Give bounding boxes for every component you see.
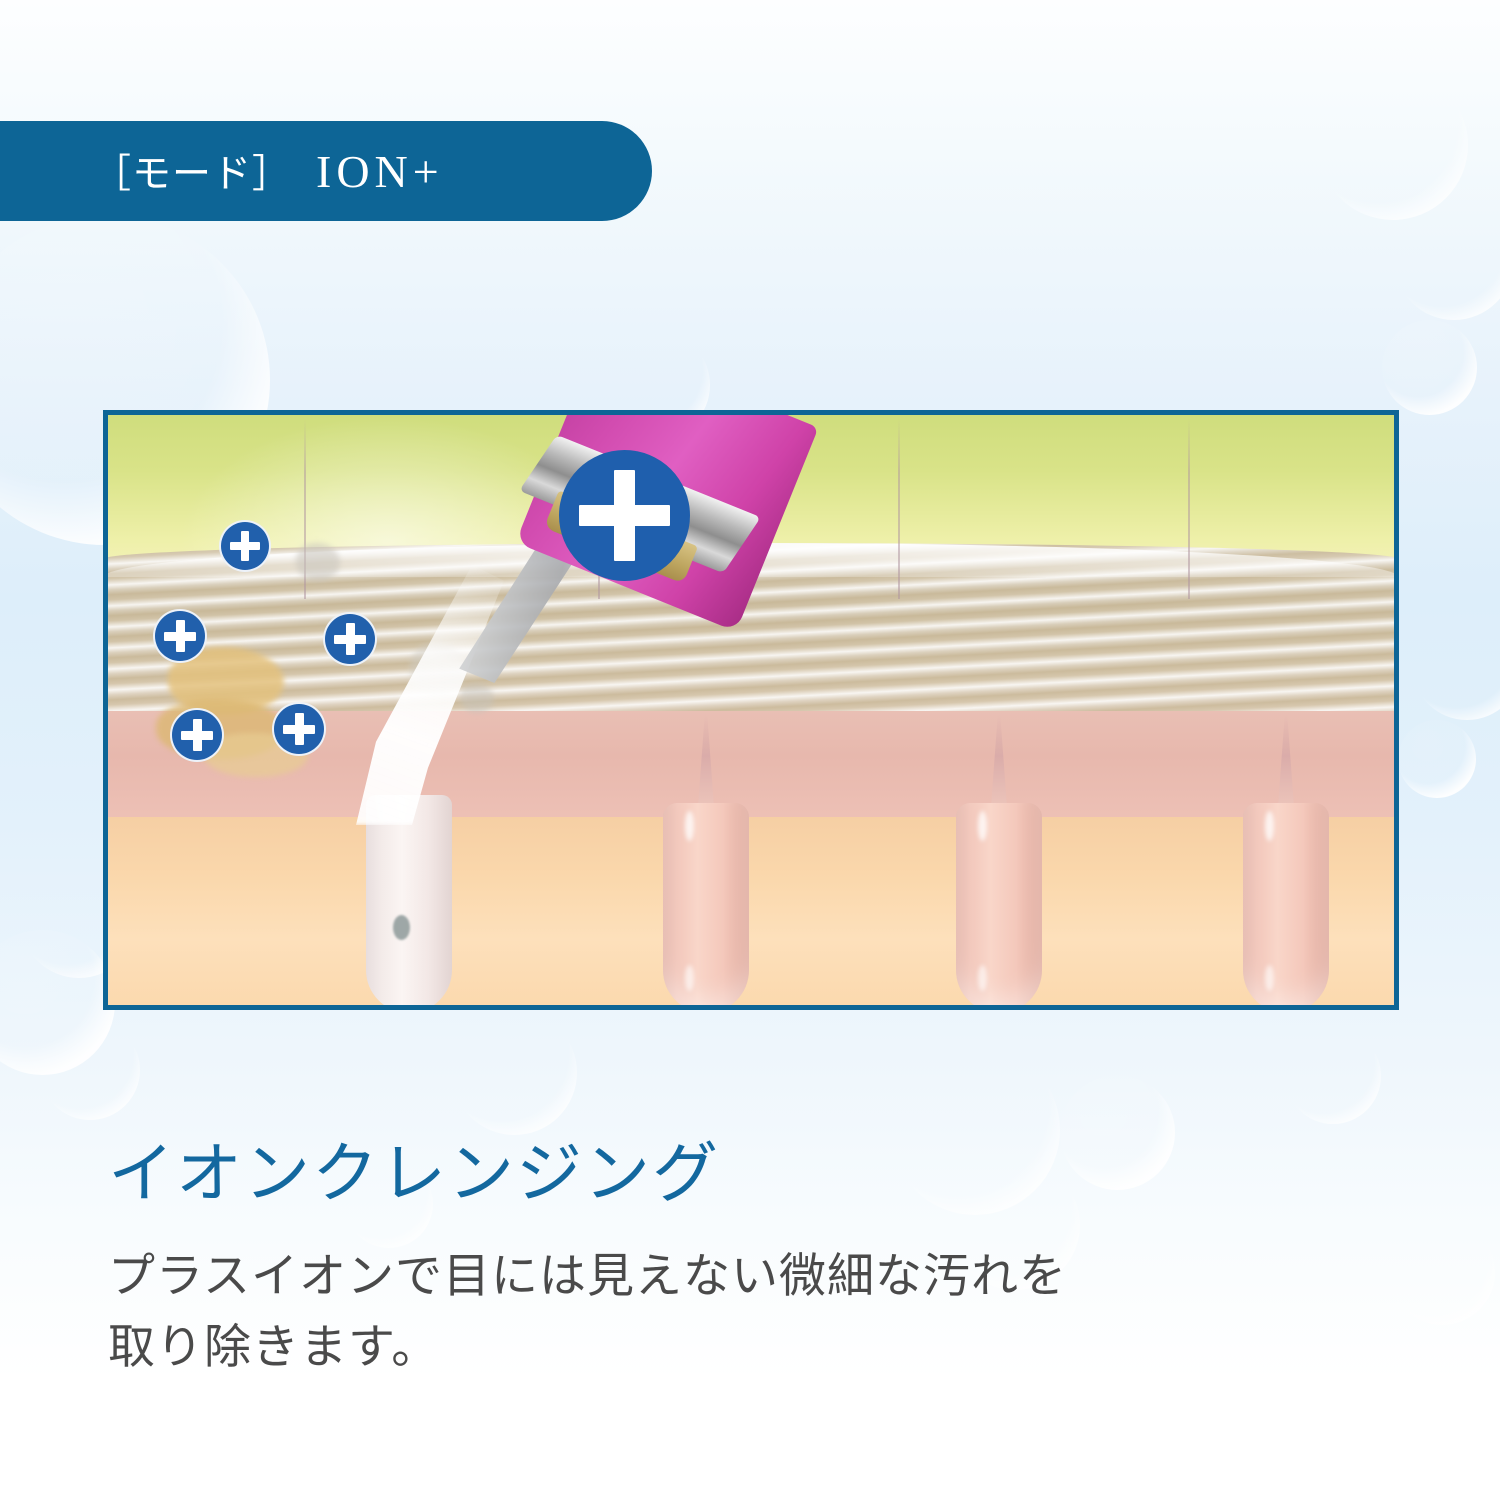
bubble-shape (890, 1045, 1060, 1215)
grime-blob (296, 543, 340, 581)
caption-body-line-2: 取り除きます。 (108, 1313, 1067, 1384)
mode-value: ION+ (316, 145, 444, 198)
plus-ion-badge-2 (153, 609, 207, 663)
skin-cross-section-illustration (103, 410, 1399, 1010)
bubble-shape (1412, 610, 1500, 720)
caption-body: プラスイオンで目には見えない微細な汚れを 取り除きます。 (108, 1242, 1067, 1385)
caption-body-line-1: プラスイオンで目には見えない微細な汚れを (108, 1242, 1067, 1313)
plus-ion-badge-main (559, 450, 690, 581)
pore-3 (956, 803, 1042, 1005)
subcutaneous-layer (108, 817, 1394, 1005)
bubble-shape (1382, 320, 1477, 415)
dirt-speck (393, 915, 410, 940)
plus-ion-badge-3 (323, 612, 377, 666)
plus-ion-badge-1 (219, 520, 271, 572)
corneum-seam (1188, 419, 1190, 599)
bubble-shape (1398, 720, 1476, 798)
corneum-seam (898, 419, 900, 599)
bubble-shape (1060, 1075, 1175, 1190)
bubble-shape (40, 1020, 140, 1120)
pore-2 (663, 803, 749, 1005)
bubble-shape (452, 1010, 577, 1135)
caption-title: イオンクレンジング (108, 1120, 720, 1216)
bubble-shape (1285, 1028, 1381, 1124)
plus-ion-badge-5 (272, 702, 326, 756)
pore-cleaned (366, 795, 452, 1005)
grime-blob (460, 683, 494, 713)
bubble-shape (1390, 1220, 1495, 1325)
pore-4 (1243, 803, 1329, 1005)
bubble-shape (1318, 70, 1468, 220)
bubble-shape (0, 930, 115, 1075)
mode-banner: ［モード］ ION+ (0, 121, 652, 221)
bubble-shape (1394, 200, 1500, 320)
mode-label: ［モード］ (92, 143, 292, 199)
ion-cleansing-infographic: ［モード］ ION+ (0, 0, 1500, 1500)
plus-ion-badge-4 (170, 708, 224, 762)
